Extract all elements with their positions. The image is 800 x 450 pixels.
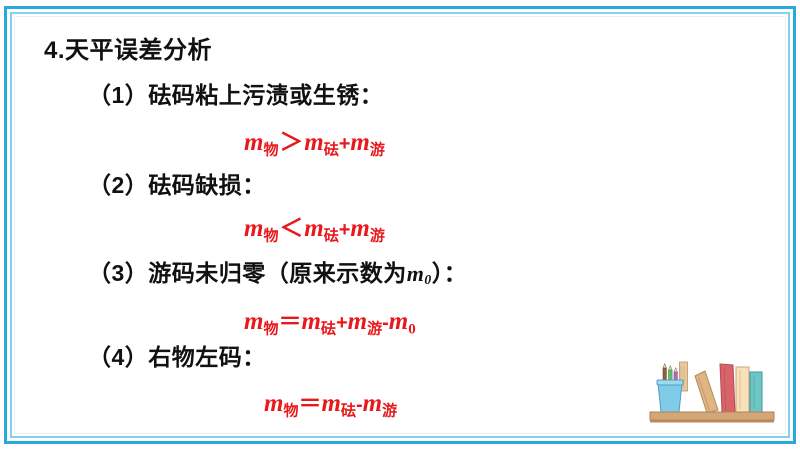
item-1-label: （1）砝码粘上污渍或生锈： [88,76,383,110]
formula-1-sub-rider: 游 [370,142,385,159]
formula-1-m-weight: m [304,129,323,156]
page-title: 4.天平误差分析 [44,30,212,65]
formula-3-sub-weight: 砝 [321,321,336,338]
item-3-label-variable-sub: 0 [424,272,431,287]
item-3-label-variable-m: m [407,261,425,286]
formula-3-m-zero: m [389,308,408,335]
slide-content: 4.天平误差分析 （1）砝码粘上污渍或生锈： m物＞m砝+m游 （2）砝码缺损：… [16,18,784,432]
item-2-formula: m物＜m砝+m游 [244,208,385,246]
formula-2-operator-plus: + [339,219,351,241]
item-4-label: （4）右物左码： [88,338,266,372]
formula-4-m-weight: m [321,390,340,417]
item-4-formula: m物＝m砝-m游 [264,384,397,421]
bookshelf-illustration [646,350,778,428]
item-3-label-post: ）： [432,260,468,286]
formula-1-operator-plus: + [339,133,351,155]
formula-2-operator-lt: ＜ [278,215,304,242]
formula-2-m-obj: m [244,215,263,242]
item-1-formula: m物＞m砝+m游 [244,122,385,160]
formula-4-m-obj: m [264,390,283,417]
formula-3-operator-minus: - [382,312,389,334]
item-3-label-variable: m0 [407,261,432,286]
item-3-label-pre: （3）游码未归零（原来示数为 [88,260,407,286]
formula-3-operator-eq: ＝ [278,308,301,334]
formula-2-sub-weight: 砝 [324,228,339,245]
formula-1-sub-weight: 砝 [324,142,339,159]
formula-3-m-weight: m [301,308,320,335]
item-3-label: （3）游码未归零（原来示数为m0）： [88,254,467,288]
formula-2-sub-obj: 物 [263,228,278,245]
formula-4-m-rider: m [363,390,382,417]
formula-1-sub-obj: 物 [263,142,278,159]
item-3-formula: m物＝m砝+m游-m0 [244,302,416,339]
formula-3-sub-zero: 0 [408,322,416,338]
formula-4-operator-minus: - [356,394,363,416]
book-leaning-icon [695,371,718,413]
formula-2-m-weight: m [304,215,323,242]
slide-canvas: 4.天平误差分析 （1）砝码粘上污渍或生锈： m物＞m砝+m游 （2）砝码缺损：… [0,0,800,450]
pencil-cup-icon [657,380,683,412]
formula-3-operator-plus: + [336,312,348,334]
formula-2-m-rider: m [350,215,369,242]
book-teal-icon [750,372,762,412]
formula-3-m-rider: m [348,308,367,335]
formula-4-operator-eq: ＝ [298,390,321,416]
formula-4-sub-rider: 游 [382,403,397,420]
book-red-icon [720,364,735,412]
formula-4-sub-weight: 砝 [341,403,356,420]
formula-3-sub-obj: 物 [263,321,278,338]
book-cream-icon [736,367,749,412]
formula-3-sub-rider: 游 [367,321,382,338]
formula-2-sub-rider: 游 [370,228,385,245]
formula-1-operator-gt: ＞ [278,129,304,156]
shelf-plank [650,412,774,423]
formula-3-m-obj: m [244,308,263,335]
formula-4-sub-obj: 物 [283,403,298,420]
item-2-label: （2）砝码缺损： [88,166,266,200]
formula-1-m-rider: m [350,129,369,156]
formula-1-m-obj: m [244,129,263,156]
